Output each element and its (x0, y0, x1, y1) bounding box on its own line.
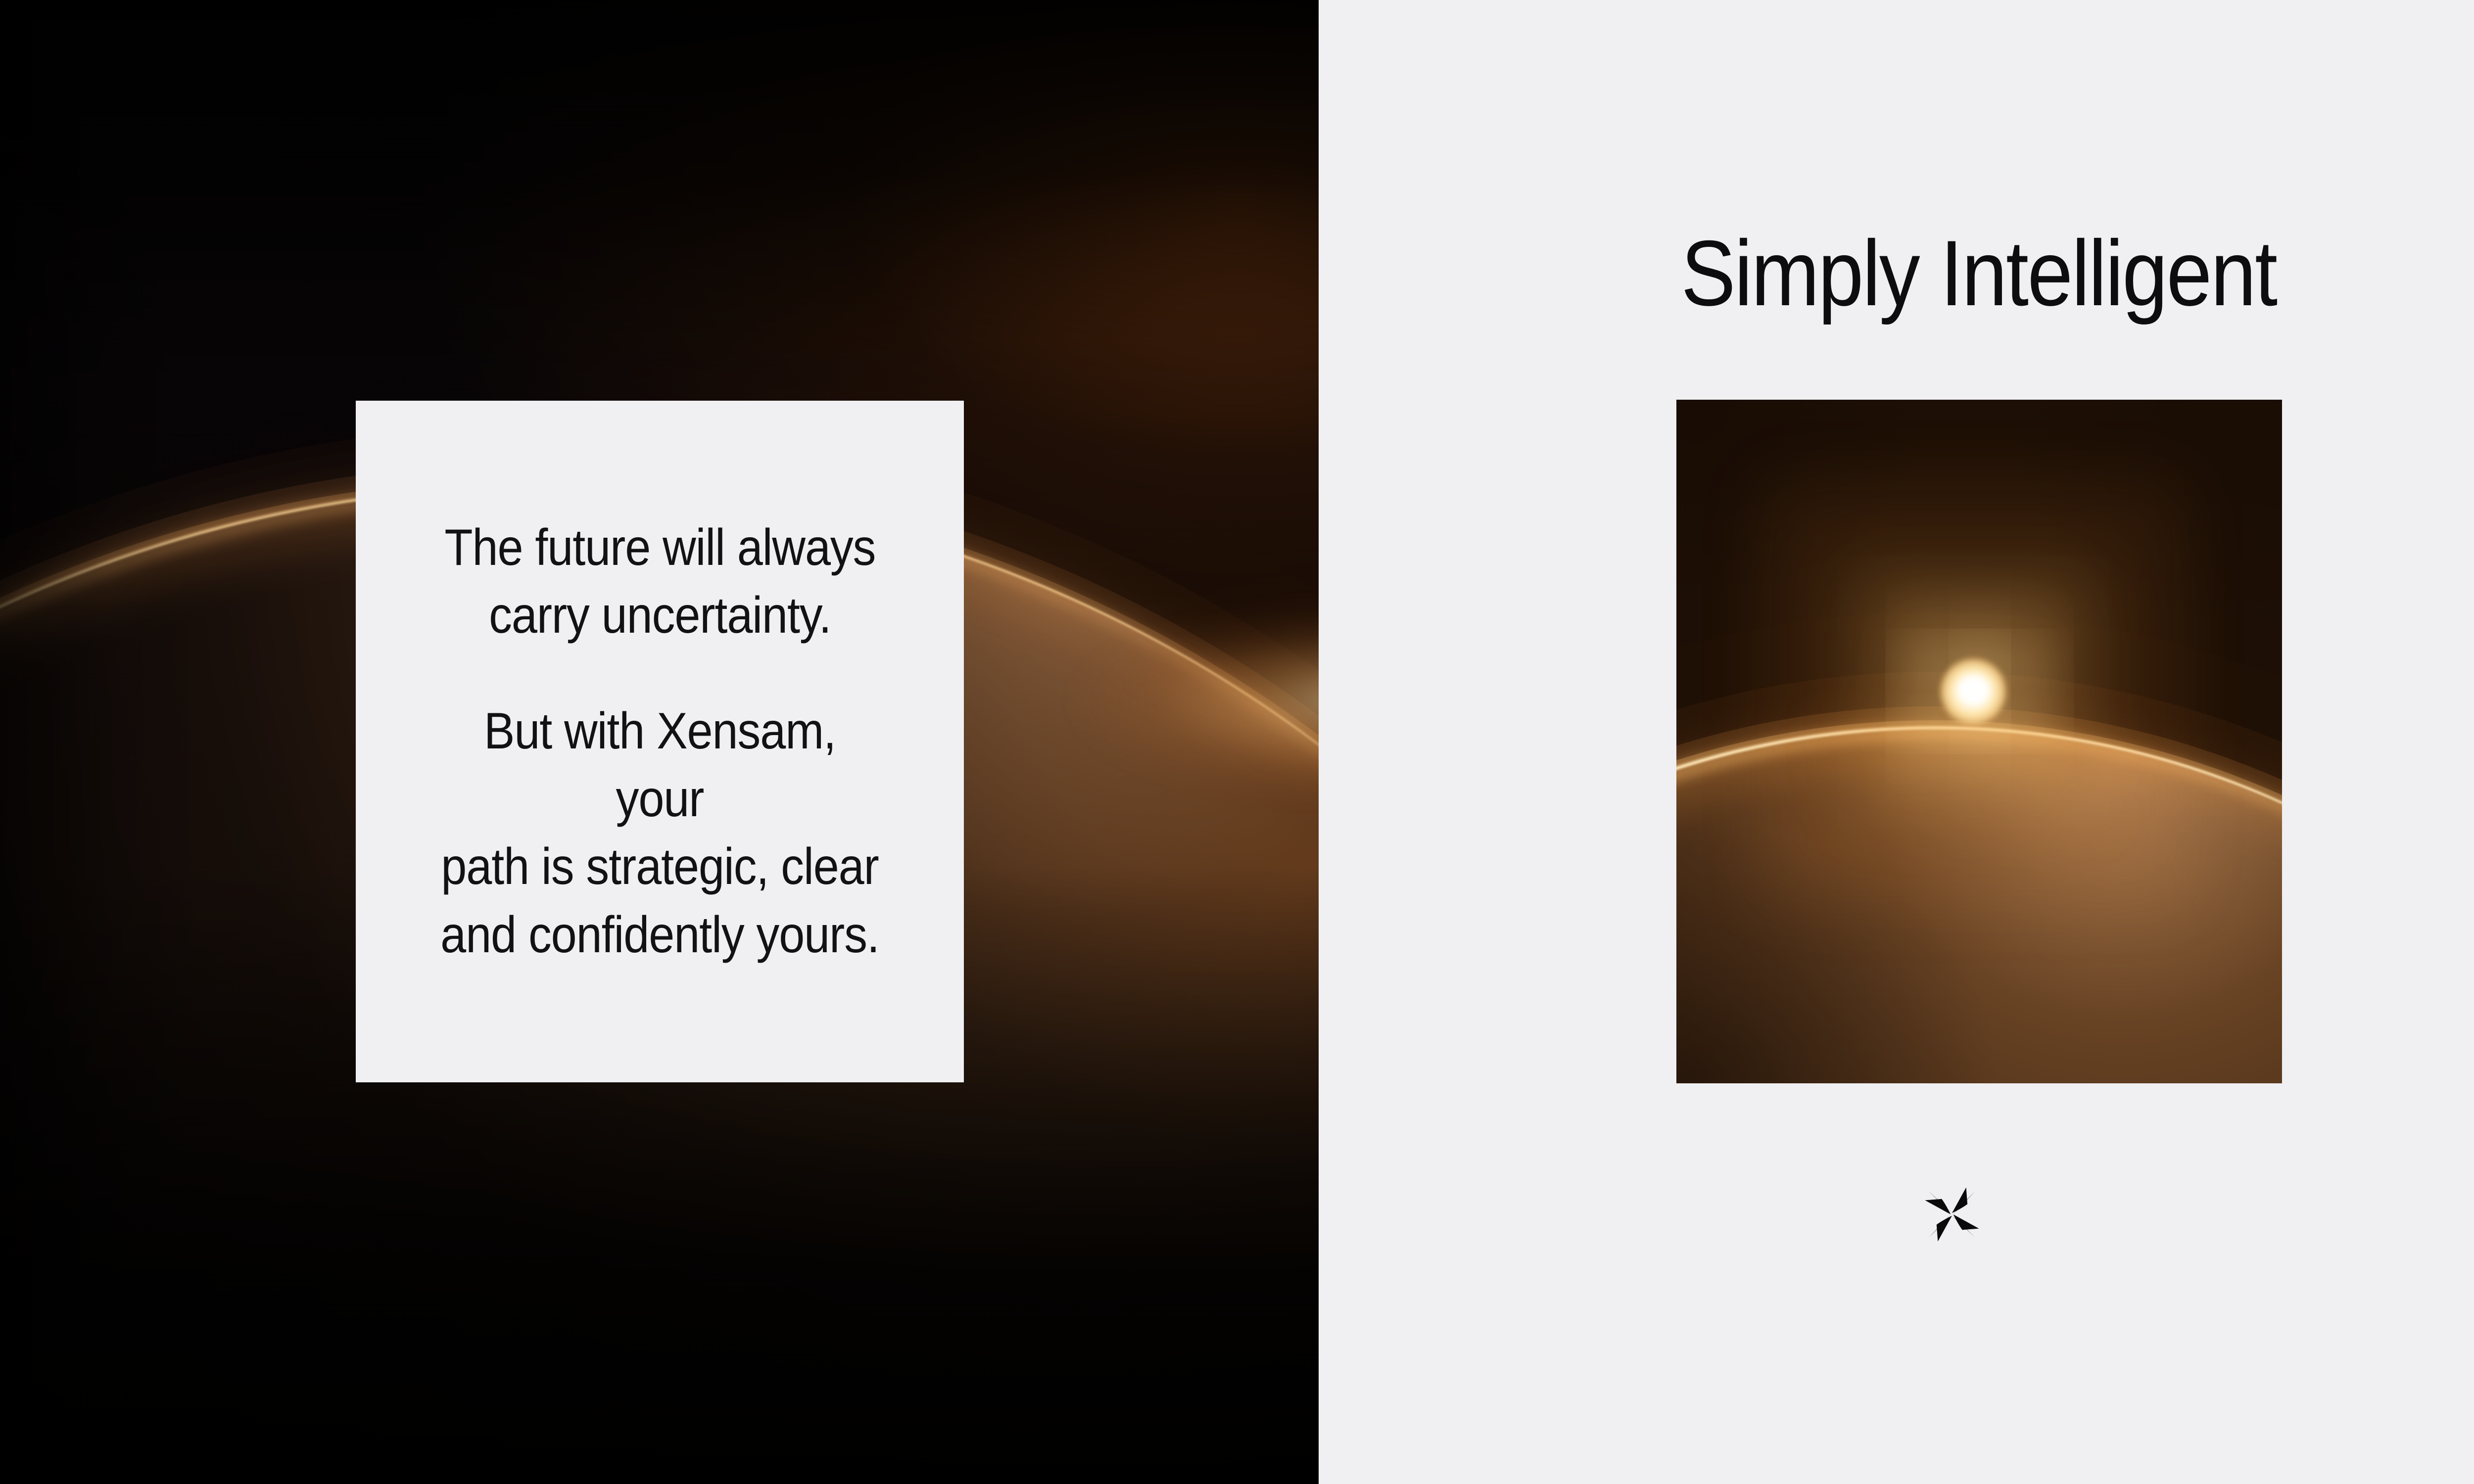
quote-card: The future will always carry uncertainty… (356, 401, 964, 1082)
left-dark-panel: The future will always carry uncertainty… (0, 0, 1319, 1484)
page-title: Simply Intelligent (1398, 227, 2474, 320)
left-edge-vignette (0, 0, 208, 1484)
split-screen-slide: The future will always carry uncertainty… (0, 0, 2474, 1484)
quote-paragraph-2: But with Xensam, your path is strategic,… (439, 697, 881, 969)
xensam-pinwheel-x-icon (1920, 1182, 1984, 1247)
thumbnail-corner-vignette (1676, 400, 2282, 1083)
quote-paragraph-1: The future will always carry uncertainty… (444, 514, 875, 650)
sunrise-thumbnail (1676, 400, 2282, 1083)
right-light-panel: Simply Intelligent (1319, 0, 2474, 1484)
